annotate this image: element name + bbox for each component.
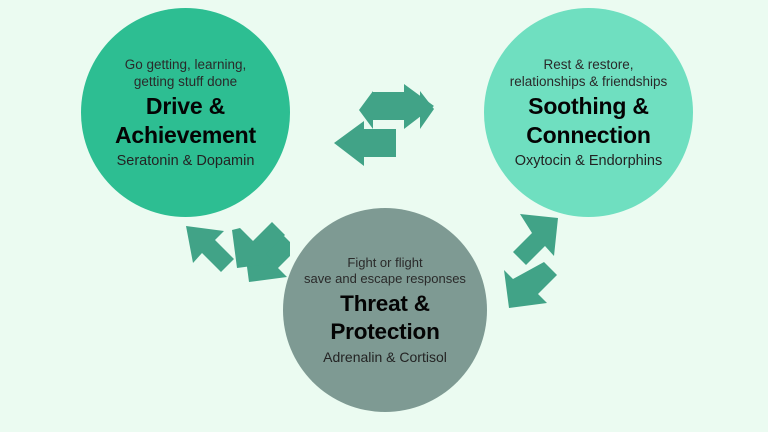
node-soothing-title: Soothing & Connection [526,92,651,150]
node-threat-descriptor-line1: Fight or flight [304,255,466,272]
node-soothing-descriptor-line1: Rest & restore, [510,56,668,73]
connector-drive-soothing [330,84,438,166]
node-drive-title-line1: Drive & [115,92,256,121]
arrow-up-right-icon [513,214,558,265]
node-soothing-descriptor: Rest & restore, relationships & friendsh… [510,56,668,90]
node-threat-descriptor: Fight or flight save and escape response… [304,255,466,288]
node-threat-title: Threat & Protection [330,290,439,346]
node-soothing-descriptor-line2: relationships & friendships [510,73,668,90]
node-threat-protection[interactable]: Fight or flight save and escape response… [283,208,487,412]
node-threat-chemicals: Adrenalin & Cortisol [323,348,447,366]
node-drive-descriptor: Go getting, learning, getting stuff done [125,56,247,90]
node-drive-chemicals: Seratonin & Dopamin [117,152,255,170]
node-threat-title-line1: Threat & [330,290,439,318]
node-threat-descriptor-line2: save and escape responses [304,271,466,288]
diagram-canvas: Go getting, learning, getting stuff done… [0,0,768,432]
node-drive-descriptor-line2: getting stuff done [125,73,247,90]
arrow-up-left-icon [186,226,234,272]
node-soothing-chemicals: Oxytocin & Endorphins [515,152,663,170]
node-soothing-connection[interactable]: Rest & restore, relationships & friendsh… [484,8,693,217]
node-drive-title-line2: Achievement [115,121,256,150]
connector-soothing-threat [500,212,564,316]
node-drive-descriptor-line1: Go getting, learning, [125,56,247,73]
arrow-down-left-icon [504,262,557,308]
node-drive-title: Drive & Achievement [115,92,256,150]
node-drive-achievement[interactable]: Go getting, learning, getting stuff done… [81,8,290,217]
arrow-left-icon [334,121,396,166]
node-soothing-title-line1: Soothing & [526,92,651,121]
connector-drive-threat [182,222,290,288]
node-soothing-title-line2: Connection [526,121,651,150]
node-threat-title-line2: Protection [330,318,439,346]
